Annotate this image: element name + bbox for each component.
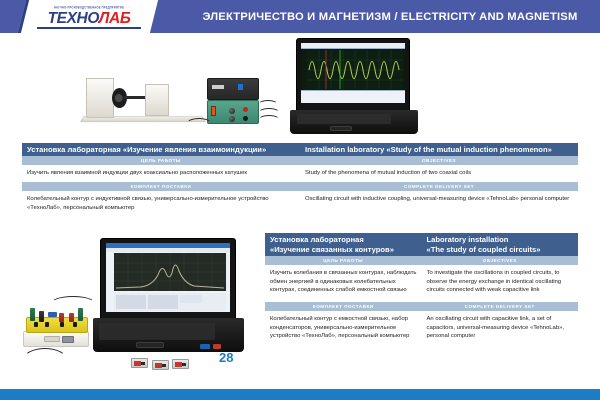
- table1-ru-sub-objectives: ЦЕЛЬ РАБОТЫ: [22, 156, 300, 165]
- table1-en-sub-delivery: COMPLETE DELIVERY SET: [300, 182, 578, 191]
- sine-wave-trace: [301, 43, 405, 103]
- coil-housing-right: [145, 84, 169, 116]
- power-switch: [211, 106, 216, 116]
- table2-ru-objectives: Изучить колебания в связанных контурах, …: [265, 265, 422, 302]
- module-3: [172, 359, 189, 369]
- table2-ru-title: Установка лабораторная «Изучение связанн…: [265, 233, 422, 256]
- info2-column-en: Laboratory installation «The study of co…: [422, 233, 579, 349]
- jack-black: [243, 116, 248, 121]
- page-header: НАУЧНО-ПРОИЗВОДСТВЕННОЕ ПРЕДПРИЯТИЕ ТЕХН…: [0, 0, 600, 33]
- terminal-3: [60, 322, 64, 327]
- info-table-coupled-circuits: Установка лабораторная «Изучение связанн…: [265, 233, 578, 349]
- component-capacitor-2: [59, 313, 64, 322]
- footer-bar: [0, 389, 600, 400]
- info-table-mutual-induction: Установка лабораторная «Изучение явления…: [22, 143, 578, 217]
- table1-en-objectives: Study of the phenomena of mutual inducti…: [300, 165, 578, 182]
- table1-en-sub-objectives: OBJECTIVES: [300, 156, 578, 165]
- terminal-2: [45, 322, 49, 327]
- terminal-4: [73, 322, 77, 327]
- component-capacitor-3: [69, 313, 74, 322]
- brand-logo: НАУЧНО-ПРОИЗВОДСТВЕННОЕ ПРЕДПРИЯТИЕ ТЕХН…: [26, 0, 152, 33]
- cable-1: [186, 118, 212, 130]
- info-column-ru: Установка лабораторная «Изучение явления…: [22, 143, 300, 217]
- logo-wordmark: ТЕХНОЛАБ: [48, 11, 131, 27]
- instrument-upper-panel: [207, 78, 259, 100]
- catalog-page: НАУЧНО-ПРОИЗВОДСТВЕННОЕ ПРЕДПРИЯТИЕ ТЕХН…: [0, 0, 600, 400]
- module-1: [131, 358, 148, 368]
- resonance-curve-trace: [106, 243, 230, 312]
- page-title: ЭЛЕКТРИЧЕСТВО И МАГНЕТИЗМ / ELECTRICITY …: [190, 0, 590, 33]
- table1-ru-delivery: Колебательный контур с индуктивной связь…: [22, 191, 300, 217]
- table1-en-delivery: Oscillating circuit with inductive coupl…: [300, 191, 578, 217]
- laptop-bottom-keyboard[interactable]: [99, 323, 215, 340]
- device-cable-top: [50, 296, 96, 312]
- table1-ru-sub-delivery: КОМПЛЕКТ ПОСТАВКИ: [22, 182, 300, 191]
- table2-en-objectives: To investigate the oscillations in coupl…: [422, 265, 579, 302]
- device-cable-bottom: [22, 348, 68, 374]
- page-number: 28: [219, 350, 233, 365]
- cable-4: [258, 115, 280, 125]
- device-connector: [44, 336, 60, 342]
- component-capacitor-1: [48, 312, 57, 317]
- instrument-display: [212, 85, 224, 89]
- component-inductor-1: [30, 308, 35, 321]
- logo-wordmark-part1: ТЕХНО: [48, 10, 99, 27]
- table2-en-title: Laboratory installation «The study of co…: [422, 233, 579, 256]
- coil-housing-left: [86, 78, 114, 118]
- table1-en-title: Installation laboratory «Study of the mu…: [300, 143, 578, 156]
- table1-ru-title: Установка лабораторная «Изучение явления…: [22, 143, 300, 156]
- table2-ru-delivery: Колебательный контур с емкостной связью,…: [265, 311, 422, 349]
- logo-wordmark-part2: ЛАБ: [99, 10, 131, 27]
- info2-column-ru: Установка лабораторная «Изучение связанн…: [265, 233, 422, 349]
- laptop-badge: [200, 344, 210, 349]
- table2-en-sub-objectives: OBJECTIVES: [422, 256, 579, 265]
- logo-underline: [37, 27, 141, 29]
- laptop-bottom-touchpad[interactable]: [136, 342, 164, 348]
- table2-ru-sub-delivery: КОМПЛЕКТ ПОСТАВКИ: [265, 302, 422, 311]
- laptop-bottom-screen: [106, 243, 230, 312]
- laptop-top-screen: [301, 43, 405, 103]
- terminal-1: [34, 322, 38, 327]
- control-knob-1: [229, 108, 235, 114]
- laptop-badge-2: [213, 344, 221, 349]
- instrument-indicator: [238, 84, 243, 90]
- table2-ru-sub-objectives: ЦЕЛЬ РАБОТЫ: [265, 256, 422, 265]
- laptop-top-touchpad[interactable]: [330, 126, 352, 131]
- device-port: [62, 336, 74, 343]
- table2-en-sub-delivery: COMPLETE DELIVERY SET: [422, 302, 579, 311]
- jack-red: [243, 107, 248, 112]
- table1-ru-objectives: Изучить явления взаимной индукции двух к…: [22, 165, 300, 182]
- info-column-en: Installation laboratory «Study of the mu…: [300, 143, 578, 217]
- laptop-top-keyboard[interactable]: [297, 114, 391, 124]
- table2-en-delivery: An oscillating circuit with capacitive l…: [422, 311, 579, 349]
- logo-tagline: НАУЧНО-ПРОИЗВОДСТВЕННОЕ ПРЕДПРИЯТИЕ: [54, 5, 124, 10]
- control-knob-2: [229, 116, 235, 122]
- component-probe-1: [39, 311, 44, 322]
- module-2: [152, 360, 169, 370]
